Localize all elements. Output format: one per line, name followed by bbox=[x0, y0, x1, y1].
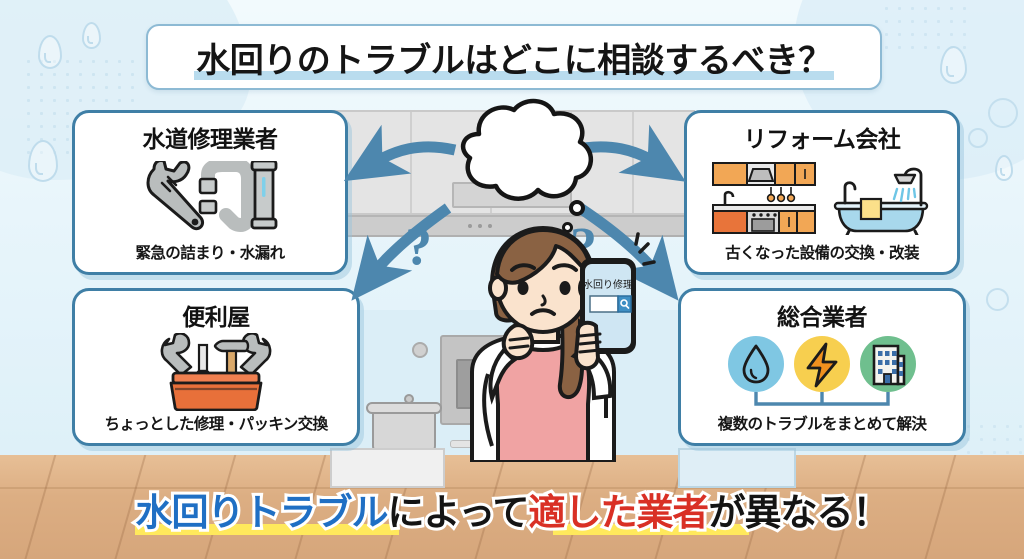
thought-cloud bbox=[432, 98, 602, 220]
thought-bubble-small bbox=[569, 200, 585, 216]
bottom-banner: 水回りトラブルによって適した業者が異なる！ bbox=[0, 478, 1024, 540]
banner-line: 水回りトラブルによって適した業者が異なる！ bbox=[135, 482, 888, 536]
banner-segment-1: 水回りトラブル bbox=[135, 492, 387, 533]
banner-segment-2: によって bbox=[387, 492, 528, 533]
banner-segment-4: が異なる！ bbox=[709, 492, 889, 533]
banner-segment-3: 適した業者 bbox=[529, 492, 709, 533]
character-illustration: 水回り修理 bbox=[430, 222, 660, 462]
phone-screen-label: 水回り修理 bbox=[583, 278, 633, 291]
infographic-canvas: ? ? bbox=[0, 0, 1024, 559]
